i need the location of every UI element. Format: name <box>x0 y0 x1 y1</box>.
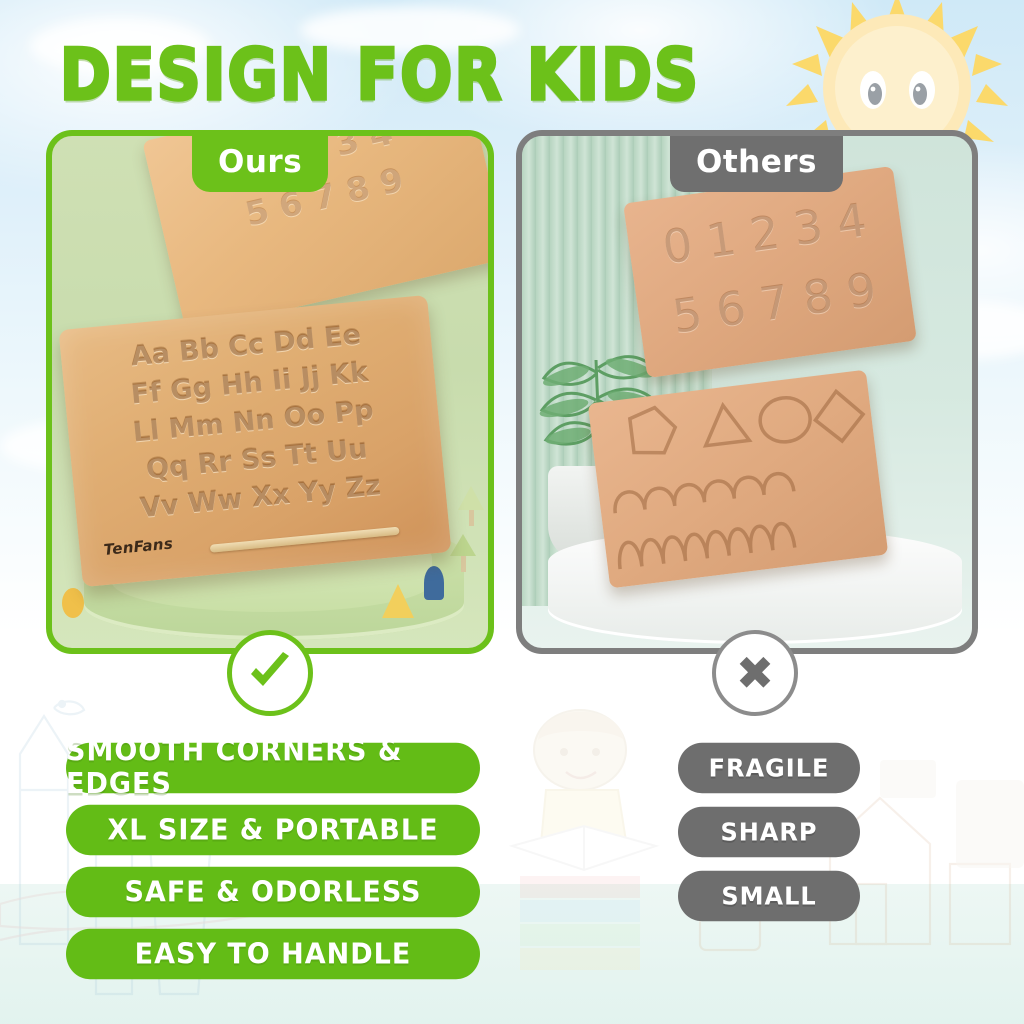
status-badge-check <box>227 630 313 716</box>
check-icon <box>243 646 297 700</box>
drawback-pill: SHARP <box>678 807 860 857</box>
toy-tree <box>450 534 476 572</box>
feature-pill: EASY TO HANDLE <box>66 929 480 979</box>
feature-pill: XL SIZE & PORTABLE <box>66 805 480 855</box>
comparison-panel-others: 0 1 2 3 4 5 6 7 8 9 Others <box>516 130 978 654</box>
pentagon-shape <box>629 405 678 456</box>
feature-list-ours: SMOOTH CORNERS & EDGES XL SIZE & PORTABL… <box>66 744 480 992</box>
stylus-pen <box>210 527 400 553</box>
arch-trace-line <box>613 472 794 513</box>
feature-pill: SMOOTH CORNERS & EDGES <box>66 743 480 793</box>
diamond-shape <box>812 388 866 443</box>
toy-cone <box>382 584 414 618</box>
wave-trace-line <box>617 522 795 569</box>
toy-tree <box>458 486 484 526</box>
x-icon: ✖ <box>736 650 775 696</box>
others-scene: 0 1 2 3 4 5 6 7 8 9 <box>522 136 972 648</box>
badge-others: Others <box>670 134 843 192</box>
comparison-panel-ours: 0 1 2 3 4 5 6 7 8 9 Aa Bb Cc Dd Ee Ff Gg… <box>46 130 494 654</box>
circle-shape <box>758 395 813 445</box>
competitor-shapes-board <box>588 370 889 589</box>
ours-scene: 0 1 2 3 4 5 6 7 8 9 Aa Bb Cc Dd Ee Ff Gg… <box>52 136 488 648</box>
infographic-stage: DESIGN FOR KIDS <box>0 0 1024 1024</box>
drawback-pill: FRAGILE <box>678 743 860 793</box>
drawback-pill: SMALL <box>678 871 860 921</box>
status-badge-x: ✖ <box>712 630 798 716</box>
badge-ours: Ours <box>192 134 328 192</box>
feature-list-others: FRAGILE SHARP SMALL <box>678 744 860 936</box>
competitor-number-board: 0 1 2 3 4 5 6 7 8 9 <box>623 166 917 378</box>
page-title: DESIGN FOR KIDS <box>0 34 768 117</box>
toy-block <box>424 566 444 600</box>
brand-logo: TenFans <box>103 534 174 559</box>
toy-block <box>62 588 84 618</box>
product-alphabet-board: Aa Bb Cc Dd Ee Ff Gg Hh Ii Jj Kk Ll Mm N… <box>58 295 451 587</box>
feature-pill: SAFE & ODORLESS <box>66 867 480 917</box>
triangle-shape <box>701 403 749 446</box>
